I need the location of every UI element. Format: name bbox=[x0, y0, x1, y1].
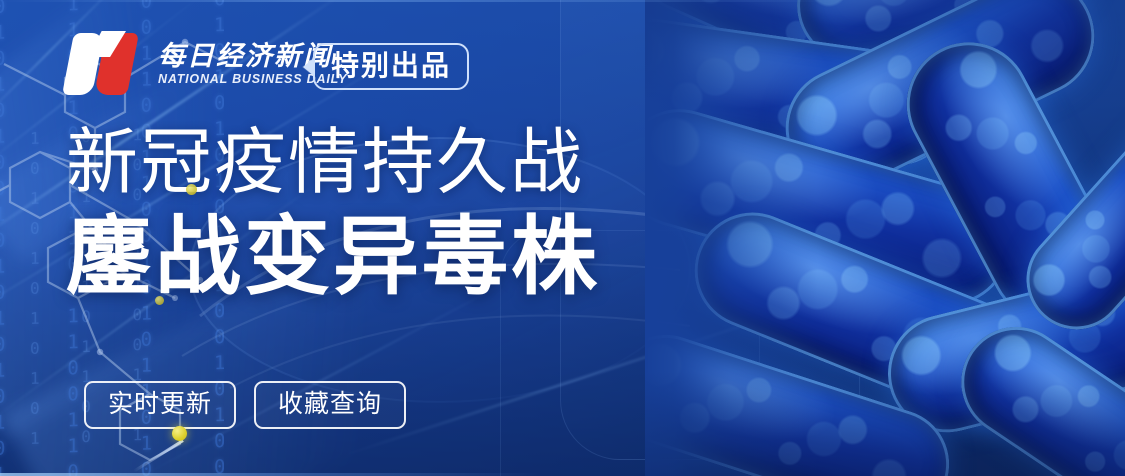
badge-label: 特别出品 bbox=[313, 43, 469, 90]
covid-campaign-banner: 0 1 0 0 1 1 0 1 0 0 1 0 1 0 1 1 0 1 0 0 … bbox=[0, 0, 1125, 476]
special-issue-badge: 特别出品 bbox=[303, 43, 469, 90]
realtime-update-button[interactable]: 实时更新 bbox=[84, 381, 236, 429]
bookmark-query-button[interactable]: 收藏查询 bbox=[254, 381, 406, 429]
headline-line-2: 鏖战变异毒株 bbox=[66, 214, 600, 300]
action-button-row: 实时更新 收藏查询 bbox=[84, 381, 406, 429]
node-connector-line bbox=[133, 439, 184, 472]
network-node-dot-icon bbox=[172, 426, 187, 441]
banner-content: 每日经济新闻 NATIONAL BUSINESS DAILY 特别出品 新冠疫情… bbox=[0, 0, 1125, 476]
network-node-dot-icon bbox=[186, 184, 197, 195]
network-node-dot-icon bbox=[155, 296, 164, 305]
page-title: 新冠疫情持久战 鏖战变异毒株 bbox=[66, 126, 600, 300]
nbd-m-logo-icon bbox=[68, 33, 142, 95]
badge-tail-arrow-icon bbox=[303, 58, 314, 76]
headline-line-1: 新冠疫情持久战 bbox=[66, 126, 600, 198]
